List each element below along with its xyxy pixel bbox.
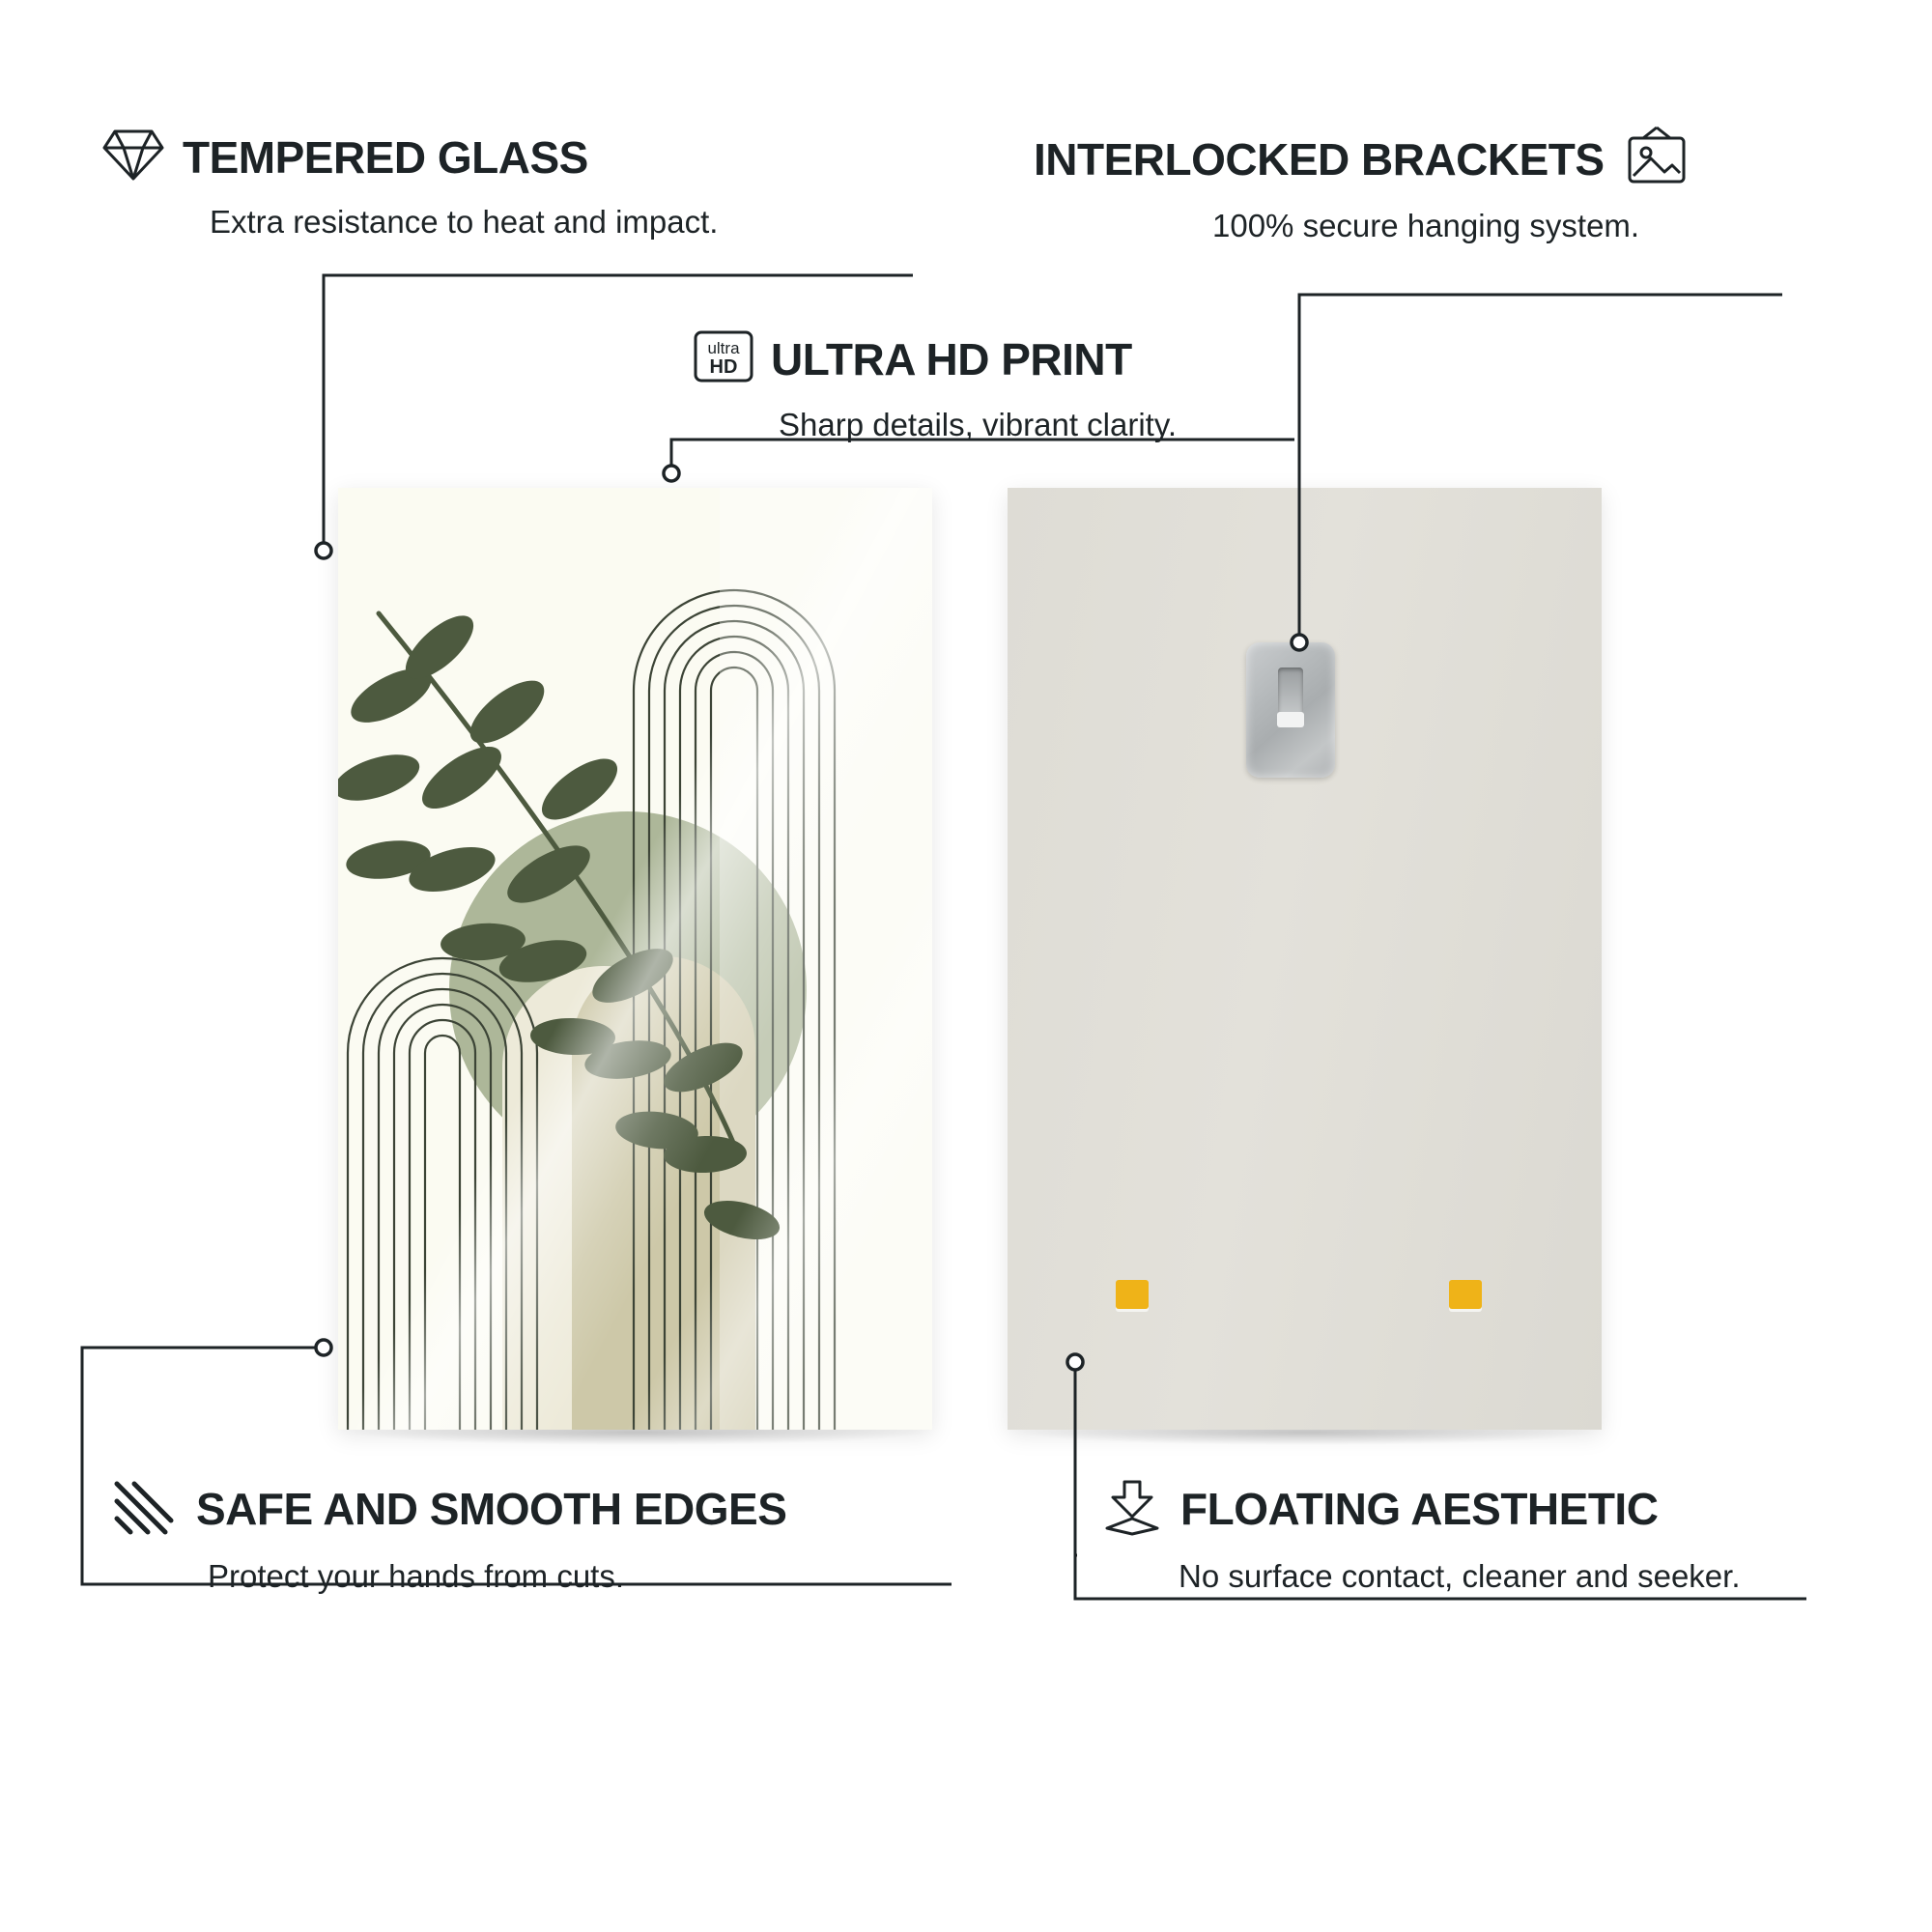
leader-dot-tempered-glass [316, 543, 331, 558]
ultra-hd-badge-icon: ultra HD [694, 327, 753, 391]
abstract-botanical-art [338, 488, 932, 1430]
feature-subtitle: 100% secure hanging system. [1212, 208, 1691, 244]
right-pad [1449, 1280, 1482, 1309]
framed-picture-icon [1622, 126, 1691, 192]
left-pad [1116, 1280, 1149, 1309]
feature-title: INTERLOCKED BRACKETS [1034, 137, 1605, 182]
feature-subtitle: Sharp details, vibrant clarity. [779, 407, 1177, 443]
svg-text:HD: HD [710, 356, 738, 378]
feature-interlocked-brackets: INTERLOCKED BRACKETS 100% secure hanging… [1034, 126, 1691, 244]
feature-ultra-hd-print: ultra HD ULTRA HD PRINT Sharp details, v… [694, 327, 1177, 443]
feature-title: FLOATING AESTHETIC [1180, 1487, 1658, 1531]
feature-tempered-glass: TEMPERED GLASS Extra resistance to heat … [101, 126, 718, 241]
bracket-notch [1277, 712, 1304, 727]
leader-dot-ultra-hd [664, 466, 679, 481]
diamond-icon [101, 126, 165, 188]
beveled-edge-icon [111, 1476, 179, 1541]
feature-subtitle: Protect your hands from cuts. [208, 1558, 786, 1595]
artwork-back-panel [1008, 488, 1602, 1430]
front-panel-artwork [338, 488, 932, 1430]
feature-subtitle: No surface contact, cleaner and seeker. [1179, 1558, 1741, 1595]
feature-title: TEMPERED GLASS [183, 135, 588, 180]
feature-title: SAFE AND SMOOTH EDGES [196, 1487, 786, 1531]
feature-floating-aesthetic: FLOATING AESTHETIC No surface contact, c… [1101, 1476, 1741, 1595]
hanging-bracket [1246, 642, 1335, 778]
feature-safe-smooth-edges: SAFE AND SMOOTH EDGES Protect your hands… [111, 1476, 786, 1595]
down-arrow-plate-icon [1101, 1476, 1163, 1541]
leader-lines [0, 0, 1932, 1932]
infographic-stage: TEMPERED GLASS Extra resistance to heat … [0, 0, 1932, 1932]
artwork-front-panel [338, 488, 932, 1430]
svg-text:ultra: ultra [707, 339, 740, 357]
feature-title: ULTRA HD PRINT [771, 337, 1132, 382]
leader-dot-edges [316, 1340, 331, 1355]
feature-subtitle: Extra resistance to heat and impact. [210, 204, 718, 241]
